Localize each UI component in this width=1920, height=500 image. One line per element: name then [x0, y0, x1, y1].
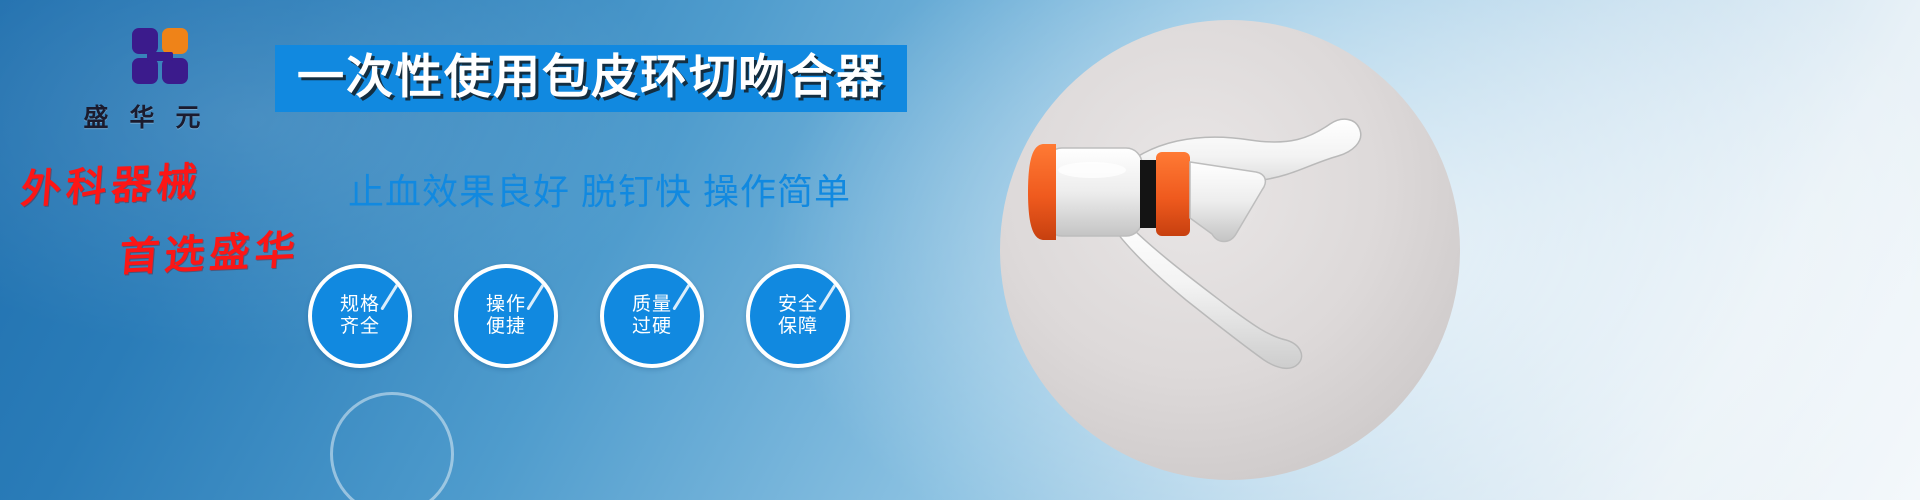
feature-badge-3[interactable]: 质量 过硬	[600, 264, 704, 368]
decorative-circle	[330, 392, 454, 500]
logo-square-bottom-left	[132, 58, 158, 84]
logo-square-top-left	[132, 28, 158, 54]
badge-label-line1: 操作	[486, 294, 526, 316]
badge-label-line2: 齐全	[340, 316, 380, 338]
slogan-calligraphy: 外科器械 首选盛华	[22, 150, 352, 278]
slogan-line-1: 外科器械	[19, 143, 355, 215]
promo-banner: 盛 华 元 一次性使用包皮环切吻合器 外科器械 首选盛华 止血效果良好 脱钉快 …	[0, 0, 1920, 500]
stapler-device-icon	[1000, 20, 1460, 480]
badge-slash-icon	[526, 283, 544, 310]
badge-slash-icon	[818, 283, 836, 310]
badge-label-line2: 过硬	[632, 316, 672, 338]
badge-label-line2: 便捷	[486, 316, 526, 338]
feature-badge-1[interactable]: 规格 齐全	[308, 264, 412, 368]
logo-square-bottom-right	[162, 58, 188, 84]
feature-badge-list: 规格 齐全 操作 便捷 质量 过硬 安全 保障	[308, 264, 850, 368]
page-title: 一次性使用包皮环切吻合器	[297, 52, 885, 101]
subtitle: 止血效果良好 脱钉快 操作简单	[348, 163, 851, 215]
main-title-bar: 一次性使用包皮环切吻合器	[275, 45, 907, 112]
company-logo-icon	[110, 28, 174, 90]
badge-slash-icon	[380, 283, 398, 310]
badge-label-line2: 保障	[778, 316, 818, 338]
badge-label-line1: 安全	[778, 294, 818, 316]
product-photo	[1000, 20, 1460, 480]
feature-badge-2[interactable]: 操作 便捷	[454, 264, 558, 368]
logo-square-top-right	[162, 28, 188, 54]
badge-slash-icon	[672, 283, 690, 310]
badge-label-line1: 规格	[340, 294, 380, 316]
badge-label-line1: 质量	[632, 294, 672, 316]
feature-badge-4[interactable]: 安全 保障	[746, 264, 850, 368]
brand-name: 盛 华 元	[62, 98, 222, 134]
brand-logo[interactable]: 盛 华 元	[62, 28, 222, 134]
logo-connector-bar	[147, 52, 173, 61]
